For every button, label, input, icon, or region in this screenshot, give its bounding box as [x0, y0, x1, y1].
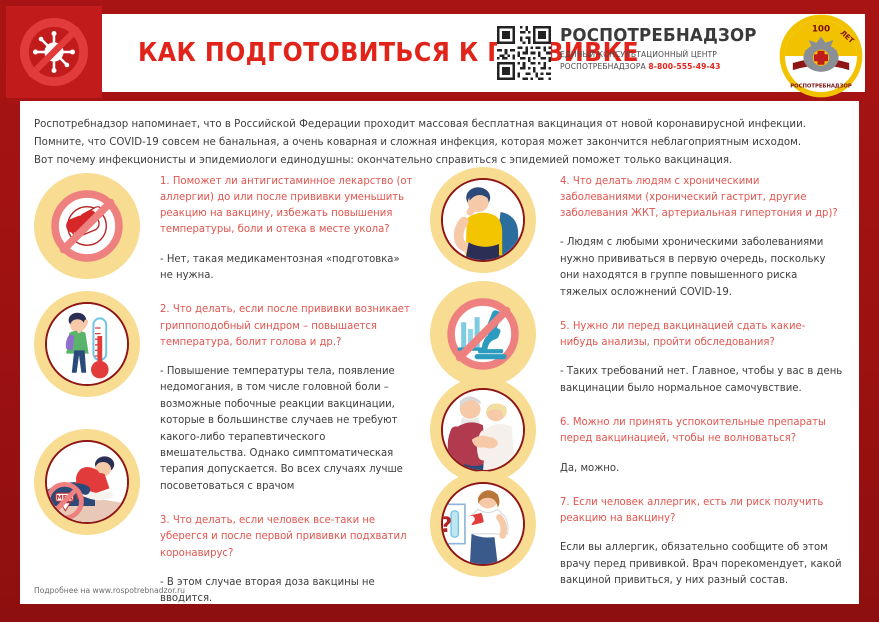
rospotrebnadzor-emblem-100-years-icon: 100 ЛЕТ РОСПОТРЕБНАДЗОР	[777, 12, 865, 100]
no-microscope-glyph	[441, 292, 525, 376]
qa-block-2: 2. Что делать, если после прививки возни…	[160, 301, 422, 494]
question-7: 7. Если человек аллергик, есть ли риск п…	[560, 494, 843, 526]
brand-block: РОСПОТРЕБНАДЗОР ЕДИНЫЙ КОНСУЛЬТАЦИОННЫЙ …	[497, 26, 767, 80]
qa-columns: МЕД 1. Поможет ли антигистаминное лекарс…	[20, 173, 859, 573]
qa-block-3: 3. Что делать, если человек все-таки не …	[160, 512, 422, 606]
question-6: 6. Можно ли принять успокоительные препа…	[560, 414, 843, 446]
answer-5: - Таких требований нет. Главное, чтобы у…	[560, 363, 843, 396]
content-sheet: Роспотребнадзор напоминает, что в Россий…	[20, 101, 859, 604]
person-with-chronic-illness-icon	[430, 167, 536, 273]
right-text-column: 4. Что делать людям с хроническими забол…	[560, 173, 852, 607]
question-1: 1. Поможет ли антигистаминное лекарство …	[160, 173, 414, 238]
question-3: 3. Что делать, если человек все-таки не …	[160, 512, 414, 560]
poster-header: КАК ПОДГОТОВИТЬСЯ К ПРИВИВКЕ	[0, 0, 879, 100]
brand-sub-line2: РОСПОТРЕБНАДЗОРА	[560, 62, 646, 71]
answer-7: Если вы аллергик, обязательно сообщите о…	[560, 539, 843, 588]
fever-thermometer-glyph	[45, 302, 129, 386]
no-pills-icon	[34, 173, 140, 279]
answer-1: - Нет, такая медикаментозная «подготовка…	[160, 251, 414, 284]
left-text-column: 1. Поможет ли антигистаминное лекарство …	[160, 173, 422, 622]
brand-subtitle: ЕДИНЫЙ КОНСУЛЬТАЦИОННЫЙ ЦЕНТР РОСПОТРЕБН…	[560, 49, 757, 72]
footer-note: Подробнее на www.rospotrebnadzor.ru	[34, 586, 185, 595]
doctor-test-tubes-glyph: ?	[441, 482, 525, 566]
svg-text:?: ?	[441, 513, 452, 538]
brand-name: РОСПОТРЕБНАДЗОР	[560, 27, 757, 45]
svg-text:РОСПОТРЕБНАДЗОР: РОСПОТРЕБНАДЗОР	[790, 84, 852, 90]
answer-3: - В этом случае вторая доза вакцины не в…	[160, 574, 414, 607]
answer-6: Да, можно.	[560, 460, 843, 476]
answer-2: - Повышение температуры тела, появление …	[160, 363, 414, 495]
qa-block-6: 6. Можно ли принять успокоительные препа…	[560, 414, 852, 476]
no-microscope-tests-icon	[430, 281, 536, 387]
coronavirus-prohibited-icon	[6, 6, 102, 98]
calm-elderly-couple-icon	[430, 377, 536, 483]
no-fever-person-icon: МЕД	[34, 429, 140, 535]
sick-person-glyph: МЕД	[45, 440, 129, 524]
hotline-phone: 8-800-555-49-43	[648, 62, 720, 71]
question-5: 5. Нужно ли перед вакцинацией сдать каки…	[560, 318, 843, 350]
intro-paragraph: Роспотребнадзор напоминает, что в Россий…	[34, 115, 818, 170]
brand-text: РОСПОТРЕБНАДЗОР ЕДИНЫЙ КОНСУЛЬТАЦИОННЫЙ …	[560, 26, 767, 72]
question-4: 4. Что делать людям с хроническими забол…	[560, 173, 843, 221]
elderly-couple-glyph	[441, 388, 525, 472]
qa-block-5: 5. Нужно ли перед вакцинацией сдать каки…	[560, 318, 852, 396]
fever-thermometer-icon	[34, 291, 140, 397]
qa-block-4: 4. Что делать людям с хроническими забол…	[560, 173, 852, 300]
no-pills-glyph	[45, 184, 129, 268]
answer-4: - Людям с любыми хроническими заболевани…	[560, 234, 843, 300]
qa-block-1: 1. Поможет ли антигистаминное лекарство …	[160, 173, 422, 283]
qr-code-icon	[497, 26, 551, 80]
doctor-with-test-tubes-question-icon: ?	[430, 471, 536, 577]
qa-block-7: 7. Если человек аллергик, есть ли риск п…	[560, 494, 852, 589]
brand-sub-line1: ЕДИНЫЙ КОНСУЛЬТАЦИОННЫЙ ЦЕНТР	[560, 50, 717, 59]
stomach-pain-person-glyph	[441, 178, 525, 262]
question-2: 2. Что делать, если после прививки возни…	[160, 301, 414, 349]
poster-root: КАК ПОДГОТОВИТЬСЯ К ПРИВИВКЕ	[0, 0, 879, 622]
svg-text:100: 100	[812, 24, 830, 34]
